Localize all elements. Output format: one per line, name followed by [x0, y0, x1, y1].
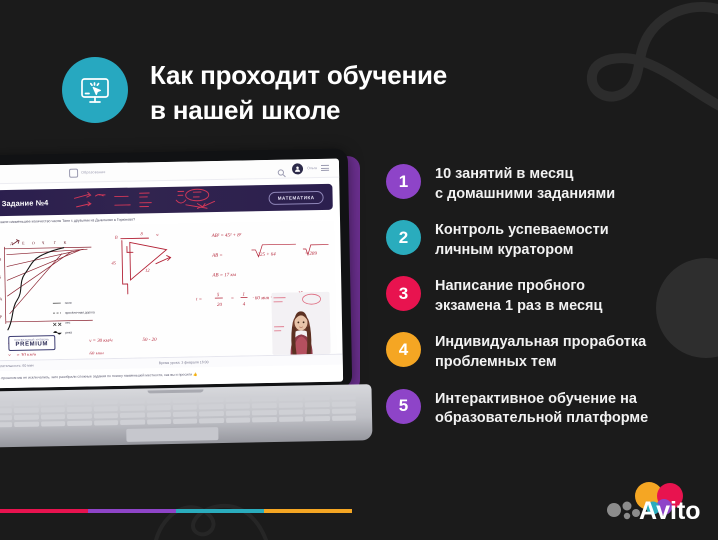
- stripe-segment-purple: [88, 509, 176, 513]
- stripe-segment-teal: [176, 509, 264, 513]
- toolbar-user-area[interactable]: Ольга: [292, 162, 329, 174]
- hamburger-menu-icon[interactable]: [321, 165, 329, 171]
- svg-text:AB² = 45² + 8²: AB² = 45² + 8²: [211, 233, 242, 240]
- feature-item-3: 3 Написание пробного экзамена 1 раз в ме…: [386, 275, 706, 316]
- premium-badge-label: PREMIUM: [14, 342, 49, 349]
- desktop-monitor-click-icon: [62, 57, 128, 123]
- feature-item-2: 2 Контроль успеваемости личным куратором: [386, 219, 706, 260]
- svg-text:Б: Б: [0, 275, 2, 280]
- slide-root: Как проходит обучение в нашей школе Обра…: [0, 0, 718, 540]
- decorative-swirl-top-right: [578, 0, 718, 122]
- laptop-screen: Образование Ольга: [0, 159, 343, 389]
- stripe-segment-amber: [264, 509, 352, 513]
- svg-text:лес: лес: [65, 321, 71, 325]
- svg-text:А: А: [0, 297, 2, 302]
- laptop-lid: Образование Ольга: [0, 148, 352, 395]
- svg-text:К: К: [64, 240, 67, 245]
- feature-list: 1 10 занятий в месяц с домашними задания…: [386, 163, 706, 429]
- svg-text:В: В: [115, 235, 118, 240]
- svg-text:225 + 64: 225 + 64: [258, 253, 277, 258]
- svg-text:=: =: [231, 297, 234, 302]
- svg-text:v: v: [8, 354, 11, 356]
- svg-text:v = 30 км/ч: v = 30 км/ч: [89, 339, 113, 344]
- svg-text:река: река: [65, 331, 72, 335]
- svg-text:12: 12: [145, 268, 150, 273]
- feature-text-3: Написание пробного экзамена 1 раз в меся…: [435, 275, 602, 316]
- teacher-video-tile[interactable]: [271, 292, 330, 355]
- feature-badge-3: 3: [386, 276, 421, 311]
- laptop-mockup: Образование Ольга: [0, 152, 378, 482]
- feature-badge-4: 4: [386, 332, 421, 367]
- svg-text:Е: Е: [22, 241, 25, 246]
- svg-text:AB =: AB =: [211, 254, 223, 259]
- avito-logo: Avito: [606, 480, 702, 526]
- svg-text:Avito: Avito: [639, 497, 701, 525]
- svg-text:t =: t =: [196, 298, 202, 303]
- toolbar-spacer: [112, 169, 272, 172]
- svg-text:ч: ч: [156, 232, 158, 237]
- svg-text:45: 45: [111, 261, 116, 266]
- whiteboard: ДЕ ОЧ ГК ВБ АР: [0, 221, 337, 361]
- user-avatar-icon[interactable]: [292, 163, 303, 174]
- feature-badge-1: 1: [386, 164, 421, 199]
- svg-text:просёлочная дорога: просёлочная дорога: [65, 311, 95, 316]
- svg-text:8: 8: [140, 232, 143, 237]
- bottom-color-stripe: [0, 509, 352, 513]
- premium-badge: ПРОФИЛЬНЫЙ УРОВЕНЬ PREMIUM: [8, 336, 55, 352]
- search-icon[interactable]: [277, 164, 286, 173]
- svg-text:= 30 км/ч: = 30 км/ч: [16, 353, 37, 356]
- task-header-bar: Задание №4: [0, 184, 333, 217]
- task-bar-scribbles: [70, 185, 262, 214]
- svg-text:60 мин: 60 мин: [89, 352, 104, 356]
- svg-text:1: 1: [242, 293, 245, 298]
- svg-text:Ч: Ч: [42, 240, 45, 245]
- page-title: Как проходит обучение в нашей школе: [150, 52, 447, 127]
- slide-header: Как проходит обучение в нашей школе: [62, 52, 447, 127]
- feature-text-5: Интерактивное обучение на образовательно…: [435, 388, 648, 429]
- app-logo-mark: [69, 168, 78, 177]
- feature-item-4: 4 Индивидуальная проработка проблемных т…: [386, 331, 706, 372]
- feature-text-2: Контроль успеваемости личным куратором: [435, 219, 609, 260]
- svg-text:Г: Г: [54, 240, 57, 245]
- laptop-keyboard: [0, 394, 356, 427]
- svg-text:20: 20: [217, 303, 223, 308]
- svg-text:поле: поле: [65, 301, 72, 305]
- app-logo-label: Образование: [81, 170, 106, 174]
- lesson-duration: Длительность: 60 мин: [0, 364, 34, 369]
- svg-text:50 - 20: 50 - 20: [143, 338, 158, 343]
- laptop-base: [0, 384, 373, 448]
- feature-badge-5: 5: [386, 389, 421, 424]
- app-logo[interactable]: Образование: [69, 168, 106, 178]
- svg-text:В: В: [0, 257, 2, 262]
- svg-text:4: 4: [243, 303, 246, 308]
- feature-item-1: 1 10 занятий в месяц с домашними задания…: [386, 163, 706, 204]
- app-toolbar: Образование Ольга: [0, 159, 339, 185]
- feature-item-5: 5 Интерактивное обучение на образователь…: [386, 388, 706, 429]
- svg-text:Д: Д: [10, 241, 13, 246]
- svg-text:5: 5: [217, 293, 220, 298]
- task-title: Задание №4: [2, 198, 49, 208]
- laptop-trackpad: [126, 427, 218, 442]
- user-name-label: Ольга: [307, 166, 317, 170]
- feature-text-1: 10 занятий в месяц с домашними заданиями: [435, 163, 615, 204]
- svg-text:О: О: [32, 241, 35, 246]
- subject-chip: МАТЕМАТИКА: [269, 190, 324, 204]
- svg-text:AB = 17 км: AB = 17 км: [211, 273, 236, 278]
- lesson-time: Время урока: 3 февраля 16:00: [159, 361, 209, 366]
- feature-text-4: Индивидуальная проработка проблемных тем: [435, 331, 646, 372]
- feature-badge-2: 2: [386, 220, 421, 255]
- stripe-segment-crimson: [0, 509, 88, 513]
- svg-text:Р: Р: [0, 314, 3, 319]
